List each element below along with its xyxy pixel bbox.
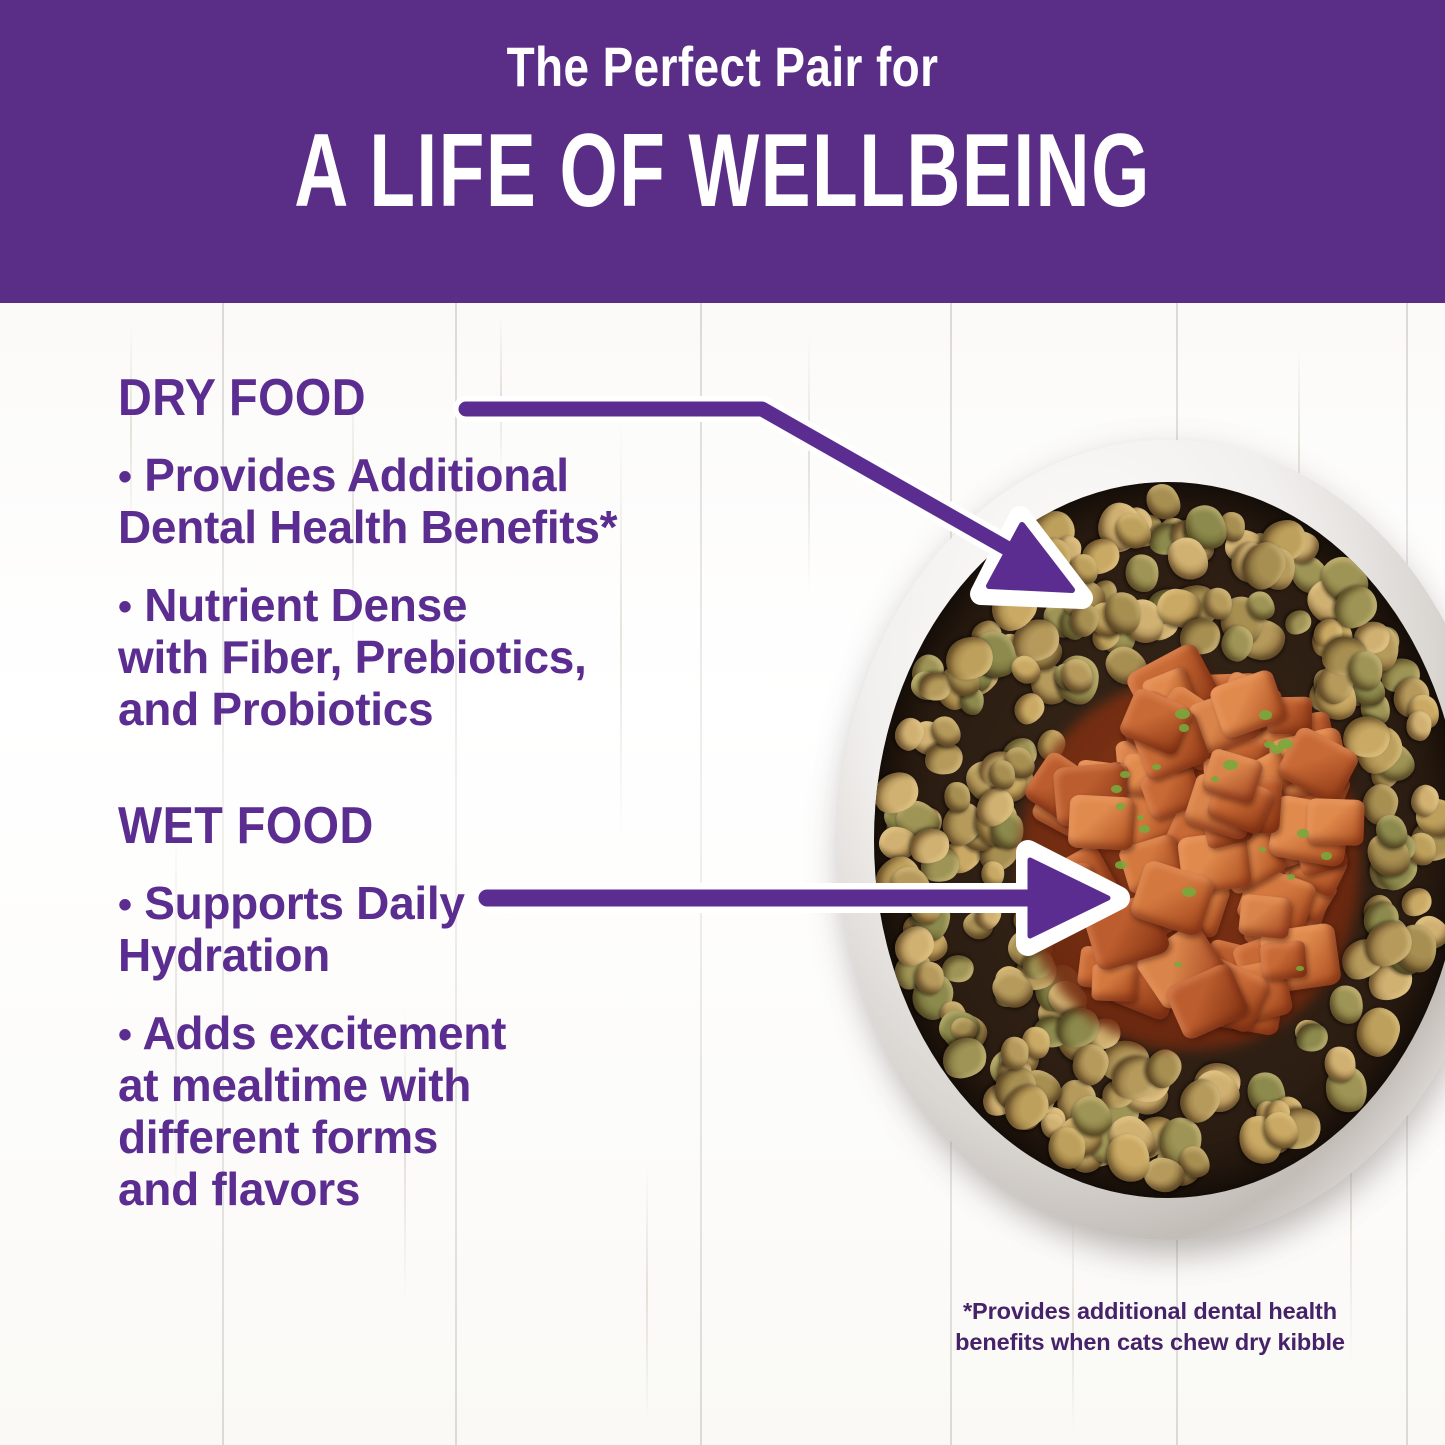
bullet-line: Adds excitement xyxy=(143,1007,507,1059)
footnote-line-2: benefits when cats chew dry kibble xyxy=(955,1329,1345,1355)
bullet-line: Supports Daily xyxy=(144,877,464,929)
bullet-line: different forms xyxy=(118,1111,438,1163)
bullet-dry-1: • Provides Additional Dental Health Bene… xyxy=(118,450,758,554)
bullet-wet-1: • Supports Daily Hydration xyxy=(118,878,758,982)
benefits-copy: DRY FOOD • Provides Additional Dental He… xyxy=(118,372,758,1216)
bullet-line: Nutrient Dense xyxy=(144,579,467,631)
bullet-line: Dental Health Benefits* xyxy=(118,501,617,553)
bullet-wet-2: • Adds excitement at mealtime with diffe… xyxy=(118,1008,758,1216)
footnote: *Provides additional dental health benef… xyxy=(950,1296,1350,1357)
bullet-line: at mealtime with xyxy=(118,1059,471,1111)
bullet-marker: • xyxy=(118,455,132,499)
bullet-line: Provides Additional xyxy=(144,449,569,501)
bullet-marker: • xyxy=(118,1013,132,1057)
bullet-line: with Fiber, Prebiotics, xyxy=(118,631,587,683)
bullet-dry-2: • Nutrient Dense with Fiber, Prebiotics,… xyxy=(118,580,758,736)
bullet-line: and flavors xyxy=(118,1163,360,1215)
section-heading-dry-food: DRY FOOD xyxy=(118,372,694,424)
section-heading-wet-food: WET FOOD xyxy=(118,800,694,852)
bullet-line: and Probiotics xyxy=(118,683,433,735)
bullet-marker: • xyxy=(118,585,132,629)
bullet-marker: • xyxy=(118,883,132,927)
promo-graphic: The Perfect Pair for A LIFE OF WELLBEING xyxy=(0,0,1445,1445)
footnote-line-1: *Provides additional dental health xyxy=(963,1298,1337,1324)
bullet-line: Hydration xyxy=(118,929,330,981)
